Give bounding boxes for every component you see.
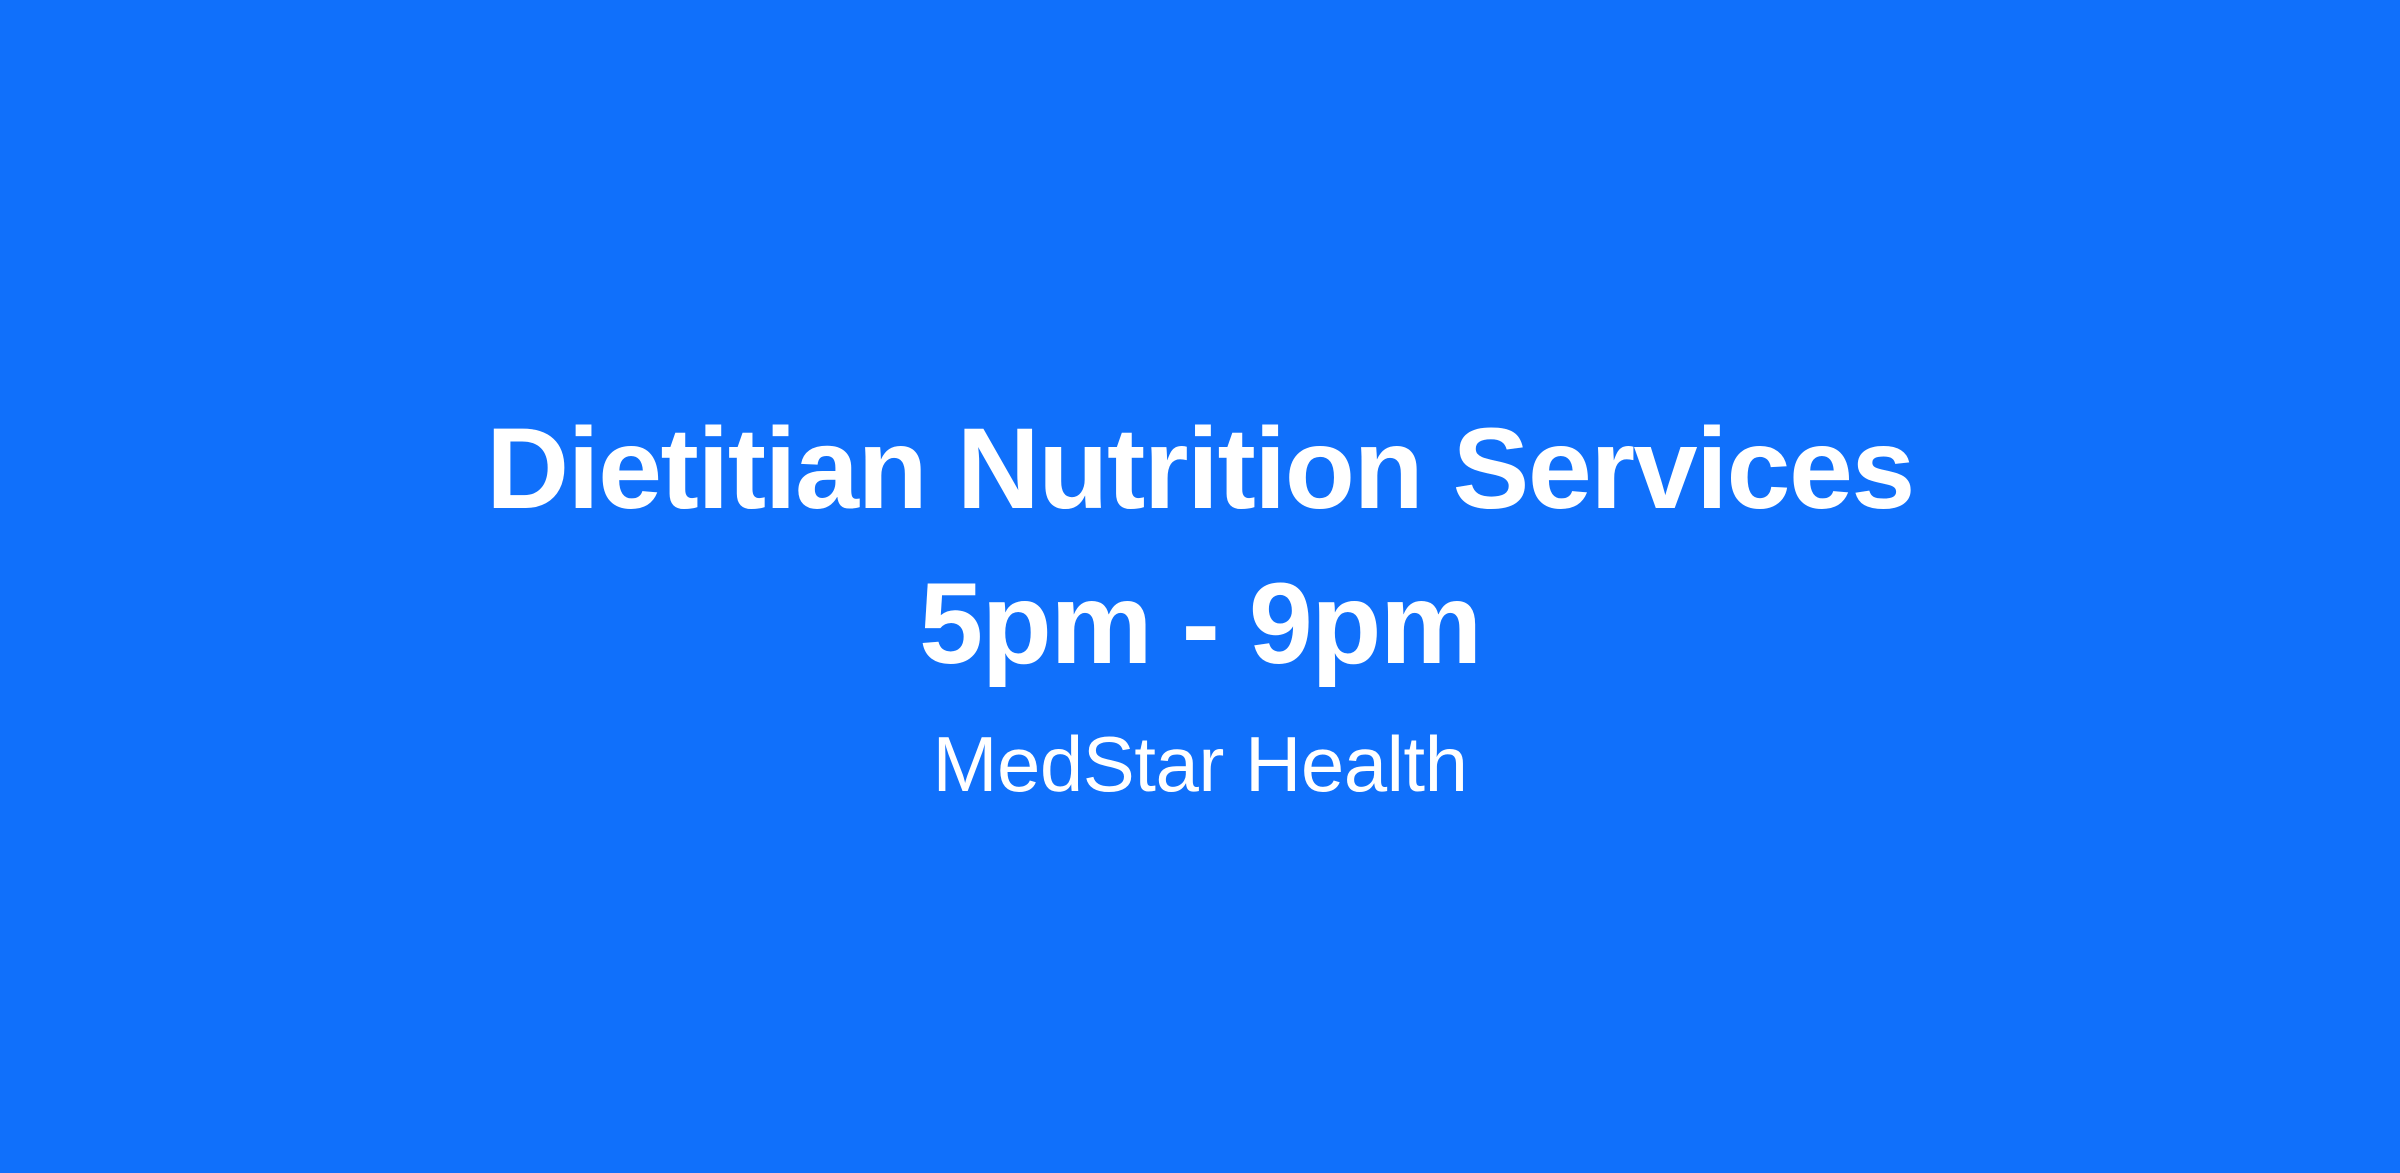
- headline-line-time-range: 5pm - 9pm: [486, 547, 1914, 702]
- announcement-organization: MedStar Health: [933, 716, 1468, 812]
- announcement-headline: Dietitian Nutrition Services 5pm - 9pm: [486, 392, 1914, 702]
- announcement-card: Dietitian Nutrition Services 5pm - 9pm M…: [0, 392, 2400, 812]
- announcement-screen: Dietitian Nutrition Services 5pm - 9pm M…: [0, 0, 2400, 1173]
- headline-line-service-name: Dietitian Nutrition Services: [486, 392, 1914, 547]
